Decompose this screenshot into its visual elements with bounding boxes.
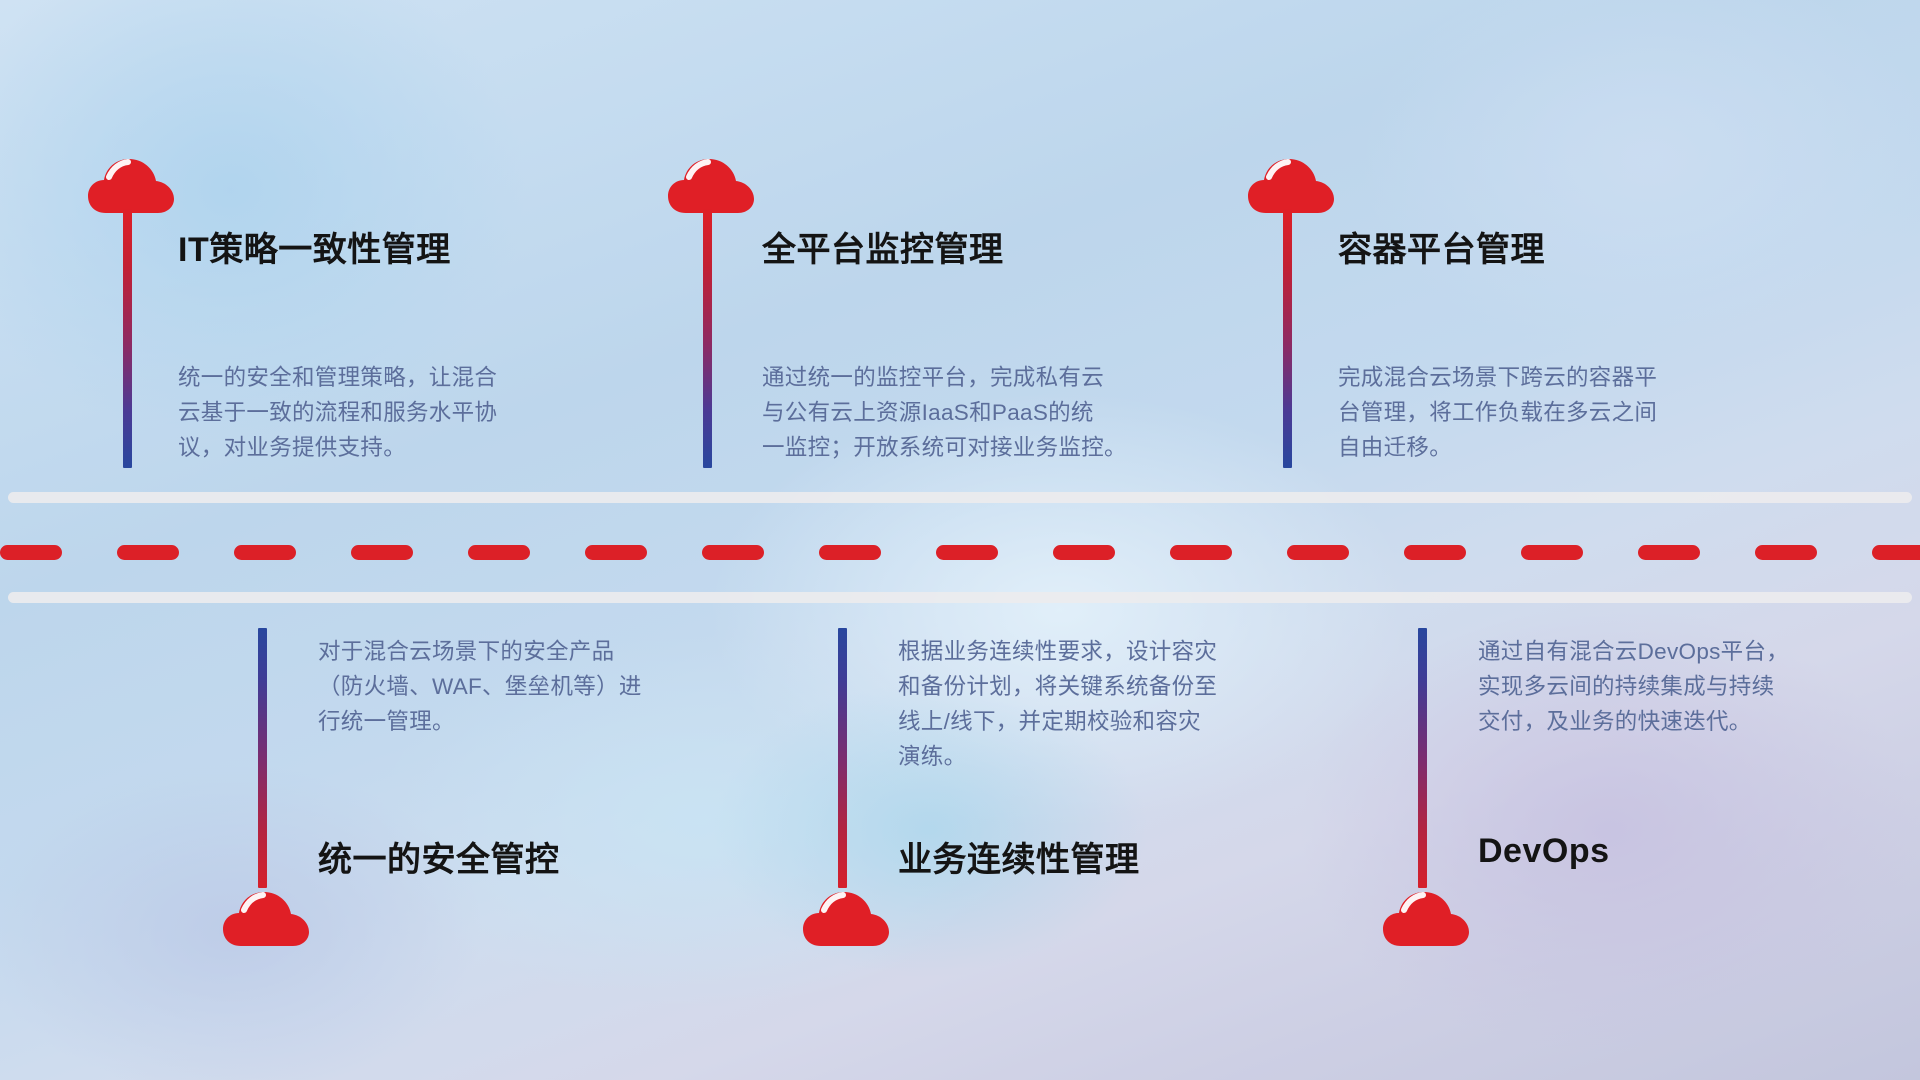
road-dash bbox=[1404, 545, 1466, 560]
item-description: 统一的安全和管理策略，让混合 云基于一致的流程和服务水平协 议，对业务提供支持。 bbox=[178, 360, 608, 465]
road-dash bbox=[1287, 545, 1349, 560]
road-edge-line-top bbox=[8, 492, 1912, 503]
road-dash bbox=[234, 545, 296, 560]
item-description: 根据业务连续性要求，设计容灾 和备份计划，将关键系统备份至 线上/线下，并定期校… bbox=[898, 634, 1328, 774]
item-title: 统一的安全管控 bbox=[318, 832, 560, 881]
item-title: 业务连续性管理 bbox=[898, 832, 1140, 881]
cloud-icon bbox=[801, 888, 893, 954]
connector-bar bbox=[838, 628, 847, 888]
road-dash bbox=[0, 545, 62, 560]
road-dash bbox=[702, 545, 764, 560]
item-description: 通过统一的监控平台，完成私有云 与公有云上资源IaaS和PaaS的统 一监控；开… bbox=[762, 360, 1202, 465]
road-dash bbox=[1872, 545, 1920, 560]
connector-bar bbox=[258, 628, 267, 888]
road-dash bbox=[1638, 545, 1700, 560]
road-center-dashes bbox=[0, 544, 1920, 560]
cloud-icon bbox=[1381, 888, 1473, 954]
connector-bar bbox=[703, 208, 712, 468]
item-title: IT策略一致性管理 bbox=[178, 222, 451, 271]
road-dash bbox=[936, 545, 998, 560]
item-description: 通过自有混合云DevOps平台， 实现多云间的持续集成与持续 交付，及业务的快速… bbox=[1478, 634, 1908, 739]
road-edge-line-bottom bbox=[8, 592, 1912, 603]
road-dash bbox=[351, 545, 413, 560]
item-title: DevOps bbox=[1478, 832, 1610, 871]
road-dash bbox=[1170, 545, 1232, 560]
item-title: 容器平台管理 bbox=[1338, 222, 1545, 271]
connector-bar bbox=[1283, 208, 1292, 468]
road-dash bbox=[819, 545, 881, 560]
road-dash bbox=[585, 545, 647, 560]
road-dash bbox=[117, 545, 179, 560]
infographic-canvas: IT策略一致性管理 统一的安全和管理策略，让混合 云基于一致的流程和服务水平协 … bbox=[0, 0, 1920, 1080]
road-dash bbox=[468, 545, 530, 560]
cloud-icon bbox=[1246, 155, 1338, 221]
item-title: 全平台监控管理 bbox=[762, 222, 1004, 271]
cloud-icon bbox=[86, 155, 178, 221]
road-dash bbox=[1053, 545, 1115, 560]
item-description: 对于混合云场景下的安全产品 （防火墙、WAF、堡垒机等）进 行统一管理。 bbox=[318, 634, 748, 739]
item-description: 完成混合云场景下跨云的容器平 台管理，将工作负载在多云之间 自由迁移。 bbox=[1338, 360, 1778, 465]
cloud-icon bbox=[666, 155, 758, 221]
connector-bar bbox=[1418, 628, 1427, 888]
road-dash bbox=[1755, 545, 1817, 560]
connector-bar bbox=[123, 208, 132, 468]
cloud-icon bbox=[221, 888, 313, 954]
road-dash bbox=[1521, 545, 1583, 560]
